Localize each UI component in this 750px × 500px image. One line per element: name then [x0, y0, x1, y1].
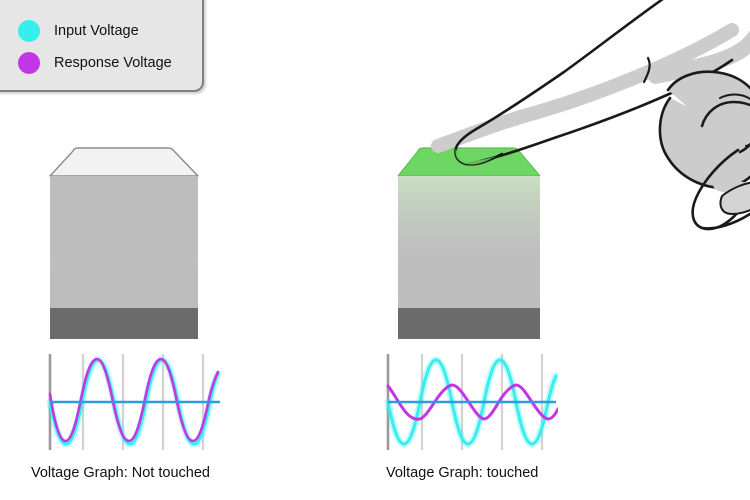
device-not-touched[interactable]	[43, 143, 213, 343]
voltage-graph-touched	[378, 352, 558, 452]
legend-item-input-voltage: Input Voltage	[18, 20, 139, 42]
legend-item-response-voltage: Response Voltage	[18, 52, 172, 74]
legend-item-label: Response Voltage	[54, 55, 172, 71]
voltage-graph-not-touched	[42, 352, 222, 452]
input-voltage-swatch	[18, 20, 40, 42]
caption-not-touched: Voltage Graph: Not touched	[31, 465, 210, 481]
response-voltage-swatch	[18, 52, 40, 74]
legend-item-label: Input Voltage	[54, 23, 139, 39]
caption-touched: Voltage Graph: touched	[386, 465, 538, 481]
device-base	[50, 308, 198, 339]
legend-panel: Input Voltage Response Voltage	[0, 0, 204, 92]
device-base	[398, 308, 540, 339]
pointing-hand-illustration	[420, 0, 750, 234]
touch-contact-highlight	[455, 148, 496, 165]
device-top-face	[50, 148, 198, 176]
device-body	[50, 176, 198, 308]
